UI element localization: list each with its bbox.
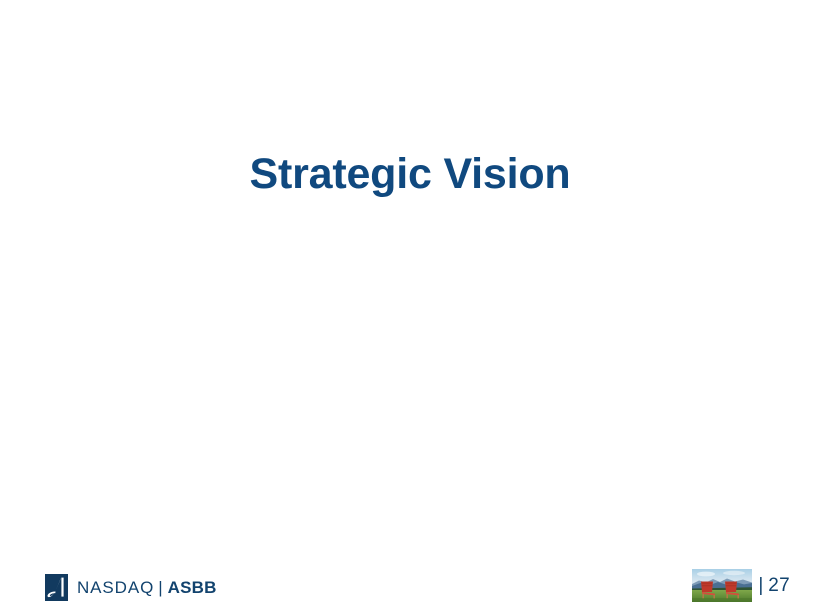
page-indicator-group: | 27 (692, 569, 790, 602)
adirondack-chairs-photo (692, 569, 752, 602)
page-separator: | (758, 576, 763, 595)
brand-separator: | (158, 579, 162, 596)
page-title: Strategic Vision (249, 150, 570, 199)
branding-group: NASDAQ | ASBB (45, 574, 217, 601)
page-number-group: | 27 (758, 576, 790, 595)
page-number-value: 27 (768, 576, 790, 595)
slide-canvas: Strategic Vision NASDAQ | ASBB (0, 0, 820, 615)
slide-body-content (60, 230, 760, 540)
nasdaq-logo-icon (45, 574, 68, 601)
ticker-symbol: ASBB (168, 579, 217, 596)
title-area: Strategic Vision (0, 150, 820, 199)
nasdaq-wordmark: NASDAQ | ASBB (77, 579, 217, 596)
exchange-name: NASDAQ (77, 579, 154, 596)
slide-footer: NASDAQ | ASBB (0, 553, 820, 615)
